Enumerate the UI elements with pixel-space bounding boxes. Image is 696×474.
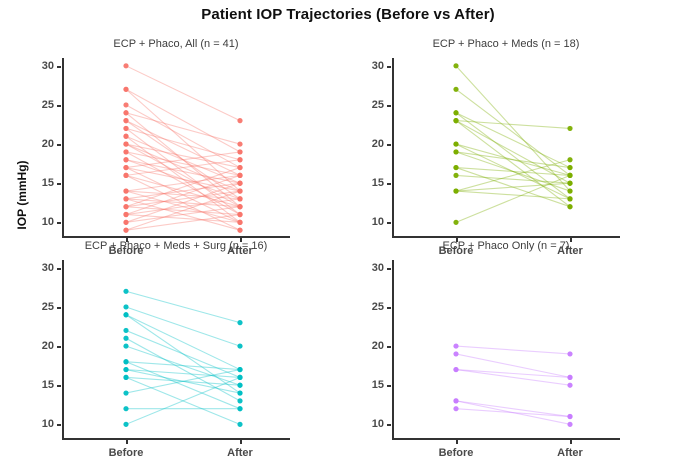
y-axis-tick-label: 15 xyxy=(372,177,384,189)
patient-trajectory-line xyxy=(456,183,570,191)
data-point xyxy=(237,422,242,427)
series-layer xyxy=(392,58,620,238)
patient-trajectory-line xyxy=(456,121,570,207)
facet-panel-title: ECP + Phaco Only (n = 7) xyxy=(392,240,620,252)
y-axis-tick xyxy=(57,183,61,185)
y-axis-tick-label: 30 xyxy=(42,262,54,274)
data-point xyxy=(453,118,458,123)
data-point xyxy=(237,212,242,217)
y-axis-tick-label: 25 xyxy=(42,301,54,313)
series-layer xyxy=(62,260,290,440)
x-axis-tick xyxy=(456,440,458,444)
data-point xyxy=(123,134,128,139)
data-point xyxy=(567,126,572,131)
data-point xyxy=(123,228,128,233)
data-point xyxy=(123,359,128,364)
y-axis-tick xyxy=(387,385,391,387)
patient-trajectory-line xyxy=(456,191,570,199)
data-point xyxy=(237,367,242,372)
data-point xyxy=(123,102,128,107)
data-point xyxy=(123,188,128,193)
data-point xyxy=(567,422,572,427)
data-point xyxy=(123,63,128,68)
patient-trajectory-line xyxy=(126,338,240,401)
y-axis-tick xyxy=(387,183,391,185)
data-point xyxy=(237,406,242,411)
y-axis-tick-label: 15 xyxy=(372,379,384,391)
y-axis-label: IOP (mmHg) xyxy=(15,145,29,245)
facet-panel-1: ECP + Phaco, All (n = 41)1015202530Befor… xyxy=(62,38,290,246)
data-point xyxy=(123,289,128,294)
y-axis-tick xyxy=(387,424,391,426)
patient-trajectory-line xyxy=(456,89,570,175)
data-point xyxy=(123,328,128,333)
data-point xyxy=(237,204,242,209)
data-point xyxy=(123,390,128,395)
patient-trajectory-line xyxy=(126,291,240,322)
data-point xyxy=(237,228,242,233)
data-point xyxy=(453,110,458,115)
data-point xyxy=(123,110,128,115)
data-point xyxy=(123,87,128,92)
patient-trajectory-line xyxy=(126,315,240,370)
y-axis-tick-label: 20 xyxy=(42,340,54,352)
facet-panel-title: ECP + Phaco + Meds (n = 18) xyxy=(392,38,620,50)
plot-area: 1015202530BeforeAfter xyxy=(62,260,290,440)
x-axis-tick xyxy=(126,440,128,444)
data-point xyxy=(123,118,128,123)
data-point xyxy=(453,398,458,403)
y-axis-tick-label: 30 xyxy=(42,60,54,72)
y-axis-tick xyxy=(57,424,61,426)
data-point xyxy=(453,165,458,170)
patient-trajectory-line xyxy=(456,409,570,417)
data-point xyxy=(567,196,572,201)
data-point xyxy=(123,126,128,131)
patient-trajectory-line xyxy=(456,121,570,129)
data-point xyxy=(237,165,242,170)
y-axis-tick-label: 25 xyxy=(42,99,54,111)
facet-panel-title: ECP + Phaco, All (n = 41) xyxy=(62,38,290,50)
data-point xyxy=(237,118,242,123)
patient-trajectory-line xyxy=(456,346,570,354)
data-point xyxy=(567,375,572,380)
data-point xyxy=(123,312,128,317)
patient-trajectory-line xyxy=(456,401,570,417)
data-point xyxy=(453,173,458,178)
data-point xyxy=(567,383,572,388)
facet-panel-title: ECP + Phaco + Meds + Surg (n = 16) xyxy=(62,240,290,252)
y-axis-tick-label: 10 xyxy=(42,418,54,430)
data-point xyxy=(237,220,242,225)
y-axis-tick-label: 25 xyxy=(372,99,384,111)
y-axis-tick-label: 10 xyxy=(372,418,384,430)
data-point xyxy=(237,320,242,325)
y-axis-tick xyxy=(57,307,61,309)
patient-trajectory-line xyxy=(126,89,240,152)
data-point xyxy=(237,398,242,403)
data-point xyxy=(237,390,242,395)
x-axis-tick-label: Before xyxy=(439,447,474,459)
facet-panel-2: ECP + Phaco + Meds (n = 18)1015202530Bef… xyxy=(392,38,620,246)
plot-area: 1015202530BeforeAfter xyxy=(392,58,620,238)
facet-panel-4: ECP + Phaco Only (n = 7)1015202530Before… xyxy=(392,240,620,448)
data-point xyxy=(453,367,458,372)
y-axis-tick xyxy=(57,385,61,387)
y-axis-tick-label: 15 xyxy=(42,379,54,391)
data-point xyxy=(453,87,458,92)
data-point xyxy=(453,149,458,154)
y-axis-tick xyxy=(57,105,61,107)
data-point xyxy=(567,414,572,419)
x-axis-tick xyxy=(570,440,572,444)
patient-trajectory-line xyxy=(456,175,570,222)
patient-trajectory-line xyxy=(126,191,240,207)
data-point xyxy=(567,181,572,186)
chart-root: Patient IOP Trajectories (Before vs Afte… xyxy=(0,0,696,474)
page-title: Patient IOP Trajectories (Before vs Afte… xyxy=(0,6,696,23)
data-point xyxy=(123,336,128,341)
patient-trajectory-line xyxy=(456,66,570,191)
y-axis-tick xyxy=(57,222,61,224)
data-point xyxy=(567,351,572,356)
y-axis-tick xyxy=(387,105,391,107)
data-point xyxy=(567,204,572,209)
y-axis-tick xyxy=(57,268,61,270)
series-layer xyxy=(62,58,290,238)
data-point xyxy=(453,188,458,193)
patient-trajectory-line xyxy=(456,370,570,386)
y-axis-tick-label: 30 xyxy=(372,60,384,72)
y-axis-tick xyxy=(387,66,391,68)
y-axis-tick-label: 20 xyxy=(42,138,54,150)
data-point xyxy=(237,196,242,201)
y-axis-tick-label: 25 xyxy=(372,301,384,313)
data-point xyxy=(123,141,128,146)
data-point xyxy=(237,375,242,380)
data-point xyxy=(123,375,128,380)
data-point xyxy=(237,181,242,186)
facet-panel-3: ECP + Phaco + Meds + Surg (n = 16)101520… xyxy=(62,240,290,448)
y-axis-tick xyxy=(387,268,391,270)
data-point xyxy=(123,149,128,154)
y-axis-tick xyxy=(387,144,391,146)
data-point xyxy=(237,157,242,162)
plot-area: 1015202530BeforeAfter xyxy=(62,58,290,238)
data-point xyxy=(237,149,242,154)
data-point xyxy=(237,343,242,348)
data-point xyxy=(123,220,128,225)
x-axis-tick-label: After xyxy=(557,447,583,459)
y-axis-tick-label: 20 xyxy=(372,138,384,150)
data-point xyxy=(123,173,128,178)
y-axis-tick xyxy=(57,346,61,348)
data-point xyxy=(567,157,572,162)
y-axis-tick xyxy=(387,222,391,224)
x-axis-tick xyxy=(240,440,242,444)
data-point xyxy=(123,422,128,427)
y-axis-tick-label: 10 xyxy=(372,216,384,228)
series-layer xyxy=(392,260,620,440)
data-point xyxy=(453,351,458,356)
data-point xyxy=(237,173,242,178)
patient-trajectory-line xyxy=(126,215,240,223)
x-axis-tick-label: After xyxy=(227,447,253,459)
data-point xyxy=(123,212,128,217)
data-point xyxy=(123,304,128,309)
y-axis-tick-label: 15 xyxy=(42,177,54,189)
data-point xyxy=(237,383,242,388)
data-point xyxy=(567,188,572,193)
data-point xyxy=(567,173,572,178)
x-axis-tick-label: Before xyxy=(109,447,144,459)
data-point xyxy=(123,165,128,170)
data-point xyxy=(123,406,128,411)
data-point xyxy=(453,406,458,411)
data-point xyxy=(453,343,458,348)
patient-trajectory-line xyxy=(126,66,240,121)
data-point xyxy=(453,141,458,146)
patient-trajectory-line xyxy=(126,152,240,168)
y-axis-tick-label: 30 xyxy=(372,262,384,274)
y-axis-tick xyxy=(57,144,61,146)
data-point xyxy=(453,63,458,68)
data-point xyxy=(237,188,242,193)
plot-area: 1015202530BeforeAfter xyxy=(392,260,620,440)
data-point xyxy=(237,141,242,146)
patient-trajectory-line xyxy=(126,105,240,168)
y-axis-tick xyxy=(387,346,391,348)
data-point xyxy=(123,196,128,201)
data-point xyxy=(123,367,128,372)
y-axis-tick xyxy=(57,66,61,68)
data-point xyxy=(123,204,128,209)
data-point xyxy=(453,220,458,225)
y-axis-tick xyxy=(387,307,391,309)
data-point xyxy=(567,165,572,170)
y-axis-tick-label: 10 xyxy=(42,216,54,228)
data-point xyxy=(123,343,128,348)
data-point xyxy=(123,157,128,162)
y-axis-tick-label: 20 xyxy=(372,340,384,352)
